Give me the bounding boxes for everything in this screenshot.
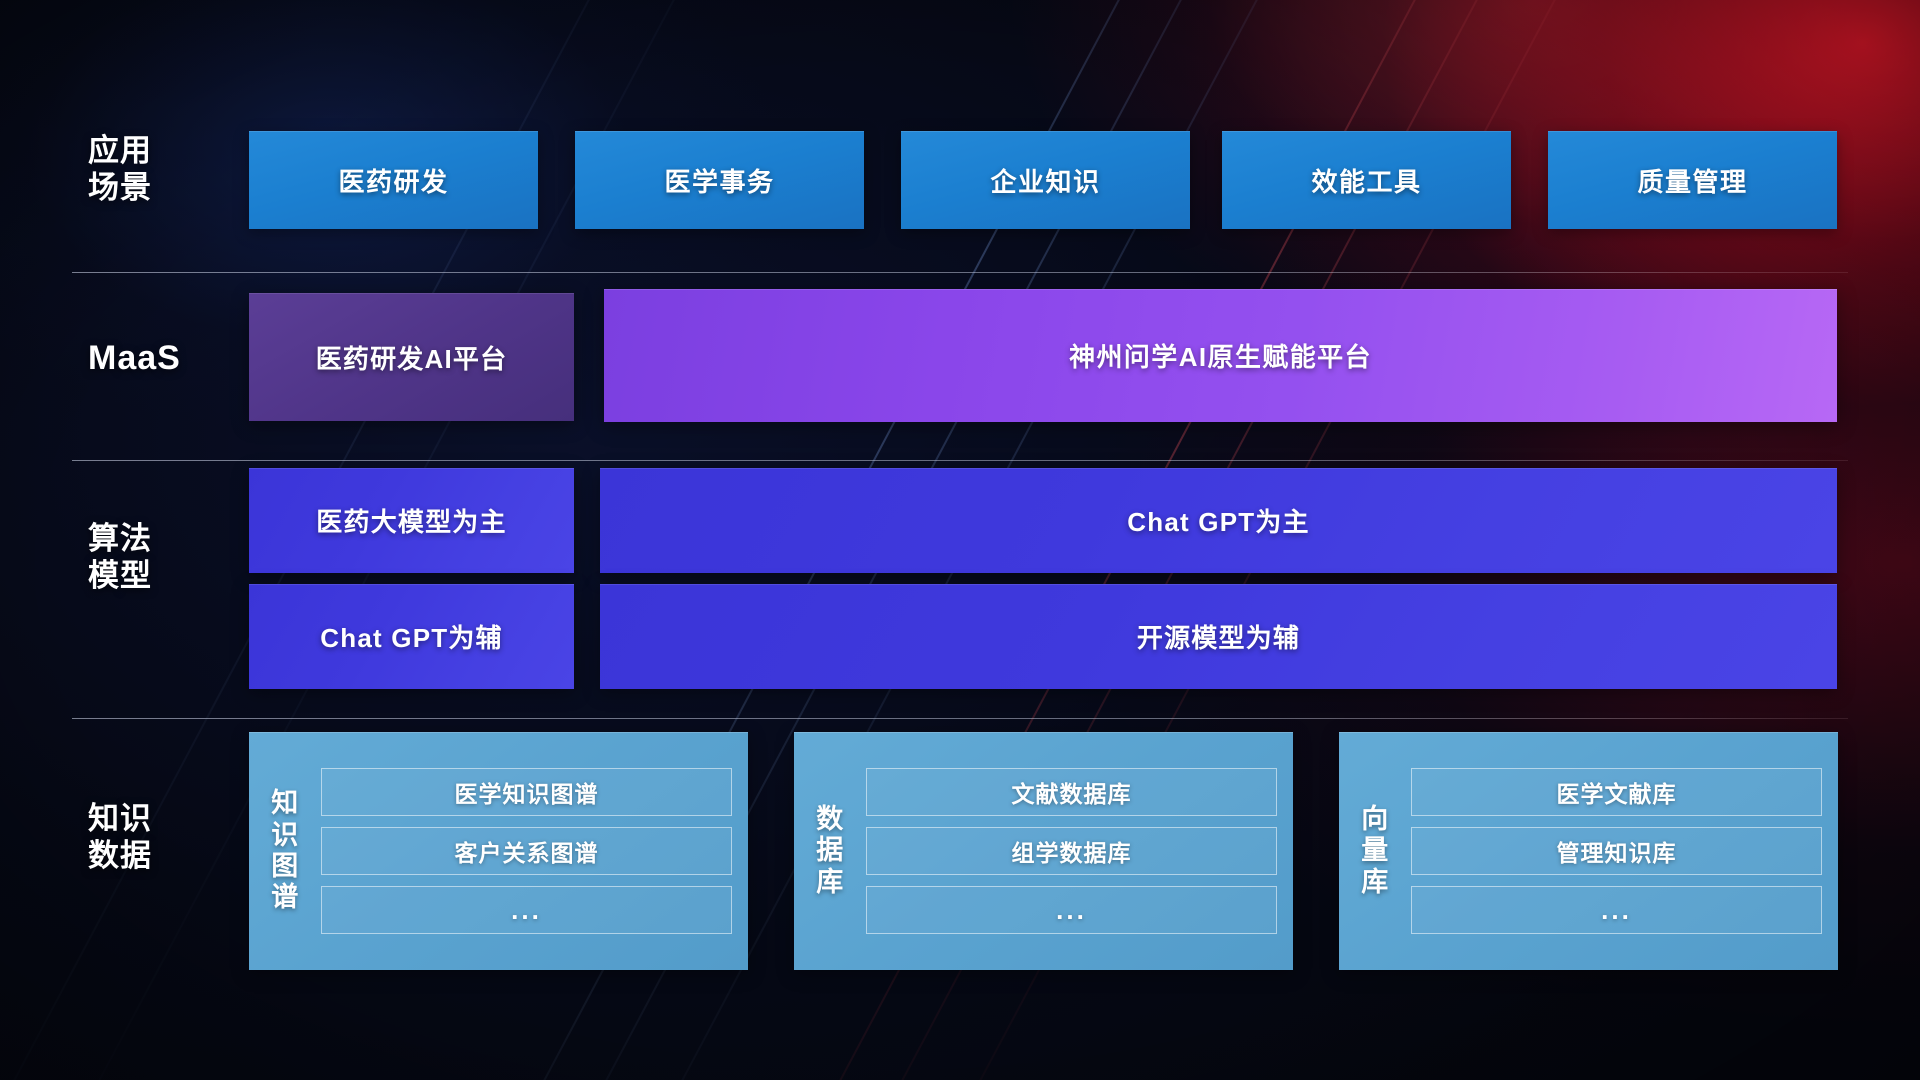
vlabel-char: 识 bbox=[271, 820, 299, 851]
vlabel-char: 数 bbox=[816, 804, 844, 835]
knowledge-item[interactable]: 管理知识库 bbox=[1411, 827, 1822, 875]
knowledge-items-knowledge-graph: 医学知识图谱 客户关系图谱 ... bbox=[321, 746, 732, 956]
tier-divider-1 bbox=[72, 272, 1848, 273]
app-box-1[interactable]: 医学事务 bbox=[575, 131, 864, 229]
knowledge-group-label-database: 数 据 库 bbox=[794, 746, 866, 956]
vlabel-char: 知 bbox=[271, 788, 299, 819]
row-label-knowledge-data: 知识 数据 bbox=[88, 800, 218, 874]
knowledge-item-more[interactable]: ... bbox=[321, 886, 732, 934]
knowledge-item[interactable]: 组学数据库 bbox=[866, 827, 1277, 875]
knowledge-item[interactable]: 医学知识图谱 bbox=[321, 768, 732, 816]
knowledge-item-more[interactable]: ... bbox=[866, 886, 1277, 934]
vlabel-char: 向 bbox=[1361, 804, 1389, 835]
knowledge-item[interactable]: 医学文献库 bbox=[1411, 768, 1822, 816]
tier-divider-3 bbox=[72, 718, 1848, 719]
vlabel-char: 库 bbox=[816, 867, 844, 898]
knowledge-item-more[interactable]: ... bbox=[1411, 886, 1822, 934]
knowledge-item[interactable]: 文献数据库 bbox=[866, 768, 1277, 816]
knowledge-group-label-knowledge-graph: 知 识 图 谱 bbox=[249, 746, 321, 956]
algo-box-chatgpt-aux[interactable]: Chat GPT为辅 bbox=[249, 584, 574, 689]
vlabel-char: 谱 bbox=[271, 882, 299, 913]
knowledge-items-database: 文献数据库 组学数据库 ... bbox=[866, 746, 1277, 956]
row-label-algorithm-models: 算法 模型 bbox=[88, 520, 218, 594]
algo-box-chatgpt-main[interactable]: Chat GPT为主 bbox=[600, 468, 1837, 573]
app-box-3[interactable]: 效能工具 bbox=[1222, 131, 1511, 229]
vlabel-char: 图 bbox=[271, 851, 299, 882]
vlabel-char: 库 bbox=[1361, 867, 1389, 898]
algo-box-pharma-main[interactable]: 医药大模型为主 bbox=[249, 468, 574, 573]
row-label-line: 知识 bbox=[88, 800, 218, 837]
app-box-0[interactable]: 医药研发 bbox=[249, 131, 538, 229]
tier-divider-2 bbox=[72, 460, 1848, 461]
row-label-maas: MaaS bbox=[88, 338, 218, 379]
row-label-line: 算法 bbox=[88, 520, 218, 557]
knowledge-group-vector-store[interactable]: 向 量 库 医学文献库 管理知识库 ... bbox=[1339, 732, 1838, 970]
row-label-line: 应用 bbox=[88, 132, 218, 169]
maas-box-pharma-platform[interactable]: 医药研发AI平台 bbox=[249, 293, 574, 421]
app-box-2[interactable]: 企业知识 bbox=[901, 131, 1190, 229]
vlabel-char: 量 bbox=[1361, 835, 1389, 866]
row-label-line: 场景 bbox=[88, 169, 218, 206]
row-label-line: MaaS bbox=[88, 338, 218, 379]
row-label-line: 模型 bbox=[88, 557, 218, 594]
knowledge-group-knowledge-graph[interactable]: 知 识 图 谱 医学知识图谱 客户关系图谱 ... bbox=[249, 732, 748, 970]
app-box-4[interactable]: 质量管理 bbox=[1548, 131, 1837, 229]
knowledge-group-database[interactable]: 数 据 库 文献数据库 组学数据库 ... bbox=[794, 732, 1293, 970]
knowledge-group-label-vector-store: 向 量 库 bbox=[1339, 746, 1411, 956]
maas-box-shenzhou-platform[interactable]: 神州问学AI原生赋能平台 bbox=[604, 289, 1837, 422]
vlabel-char: 据 bbox=[816, 835, 844, 866]
row-label-line: 数据 bbox=[88, 837, 218, 874]
row-label-application-scenarios: 应用 场景 bbox=[88, 132, 218, 206]
knowledge-item[interactable]: 客户关系图谱 bbox=[321, 827, 732, 875]
algo-box-opensource-aux[interactable]: 开源模型为辅 bbox=[600, 584, 1837, 689]
knowledge-items-vector-store: 医学文献库 管理知识库 ... bbox=[1411, 746, 1822, 956]
